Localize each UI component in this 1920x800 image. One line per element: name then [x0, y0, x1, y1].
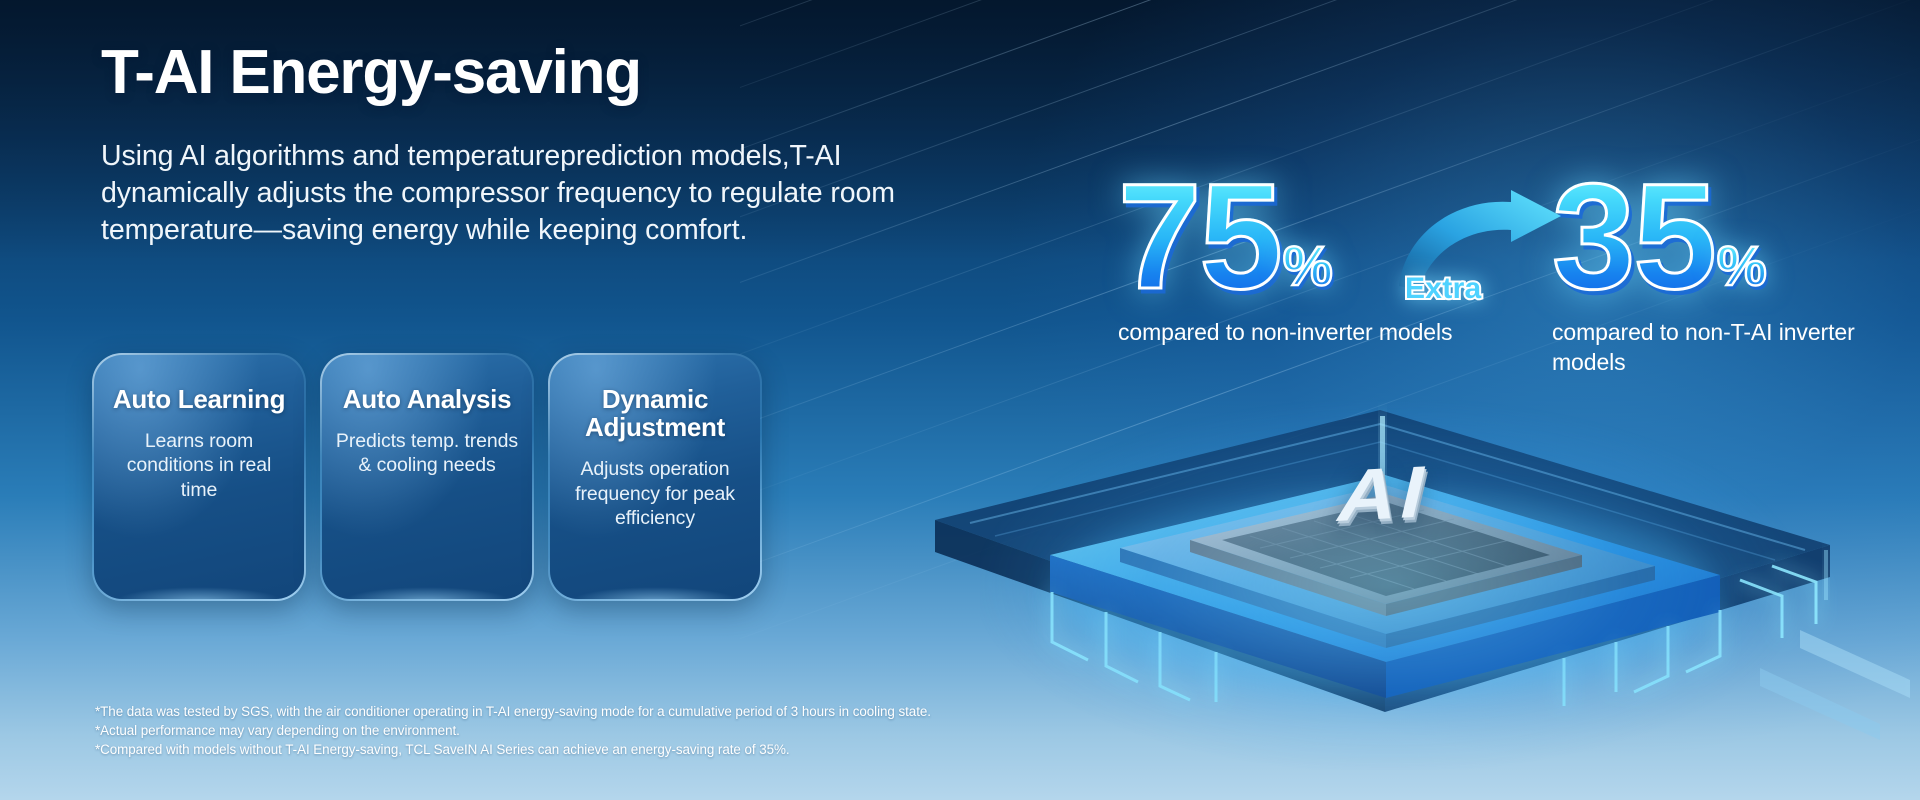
stat-number: 75	[1118, 170, 1281, 302]
feature-card-body: Auto Learning Learns room conditions in …	[94, 355, 304, 599]
feature-card-description: Learns room conditions in real time	[106, 429, 292, 502]
page-subcopy: Using AI algorithms and temperaturepredi…	[101, 138, 911, 248]
chip-vector	[820, 380, 1920, 800]
ai-chip-illustration: AI	[820, 380, 1920, 800]
curved-arrow-icon	[1393, 190, 1573, 330]
page-title: T-AI Energy-saving	[101, 40, 641, 107]
banner-stage: T-AI Energy-saving Using AI algorithms a…	[0, 0, 1920, 800]
percent-sign-icon: %	[1717, 241, 1765, 290]
feature-card-dynamic-adjustment[interactable]: Dynamic Adjustment Adjusts operation fre…	[548, 353, 762, 601]
feature-card-auto-analysis[interactable]: Auto Analysis Predicts temp. trends & co…	[320, 353, 534, 601]
chip-ai-label: AI	[1329, 449, 1438, 538]
feature-card-description: Adjusts operation frequency for peak eff…	[562, 457, 748, 530]
percent-sign-icon: %	[1283, 241, 1331, 290]
feature-card-title: Auto Learning	[113, 385, 285, 413]
footnote-list: *The data was tested by SGS, with the ai…	[95, 702, 931, 759]
extra-badge: Extra	[1393, 190, 1573, 330]
stat-value-group: 35 %	[1552, 170, 1900, 302]
stat-35-percent: 35 % compared to non-T-AI inverter model…	[1552, 170, 1900, 378]
footnote-item: *The data was tested by SGS, with the ai…	[95, 702, 931, 721]
feature-card-title: Auto Analysis	[343, 385, 512, 413]
stat-caption: compared to non-T-AI inverter models	[1552, 318, 1900, 378]
feature-card-body: Auto Analysis Predicts temp. trends & co…	[322, 355, 532, 599]
feature-card-title: Dynamic Adjustment	[562, 385, 748, 441]
feature-card-auto-learning[interactable]: Auto Learning Learns room conditions in …	[92, 353, 306, 601]
feature-card-body: Dynamic Adjustment Adjusts operation fre…	[550, 355, 760, 599]
footnote-item: *Compared with models without T-AI Energ…	[95, 740, 931, 759]
footnote-item: *Actual performance may vary depending o…	[95, 721, 931, 740]
chip-glow	[980, 400, 1800, 770]
extra-label: Extra	[1405, 272, 1482, 306]
feature-card-description: Predicts temp. trends & cooling needs	[334, 429, 520, 478]
stat-number: 35	[1552, 170, 1715, 302]
feature-card-list: Auto Learning Learns room conditions in …	[92, 353, 762, 601]
